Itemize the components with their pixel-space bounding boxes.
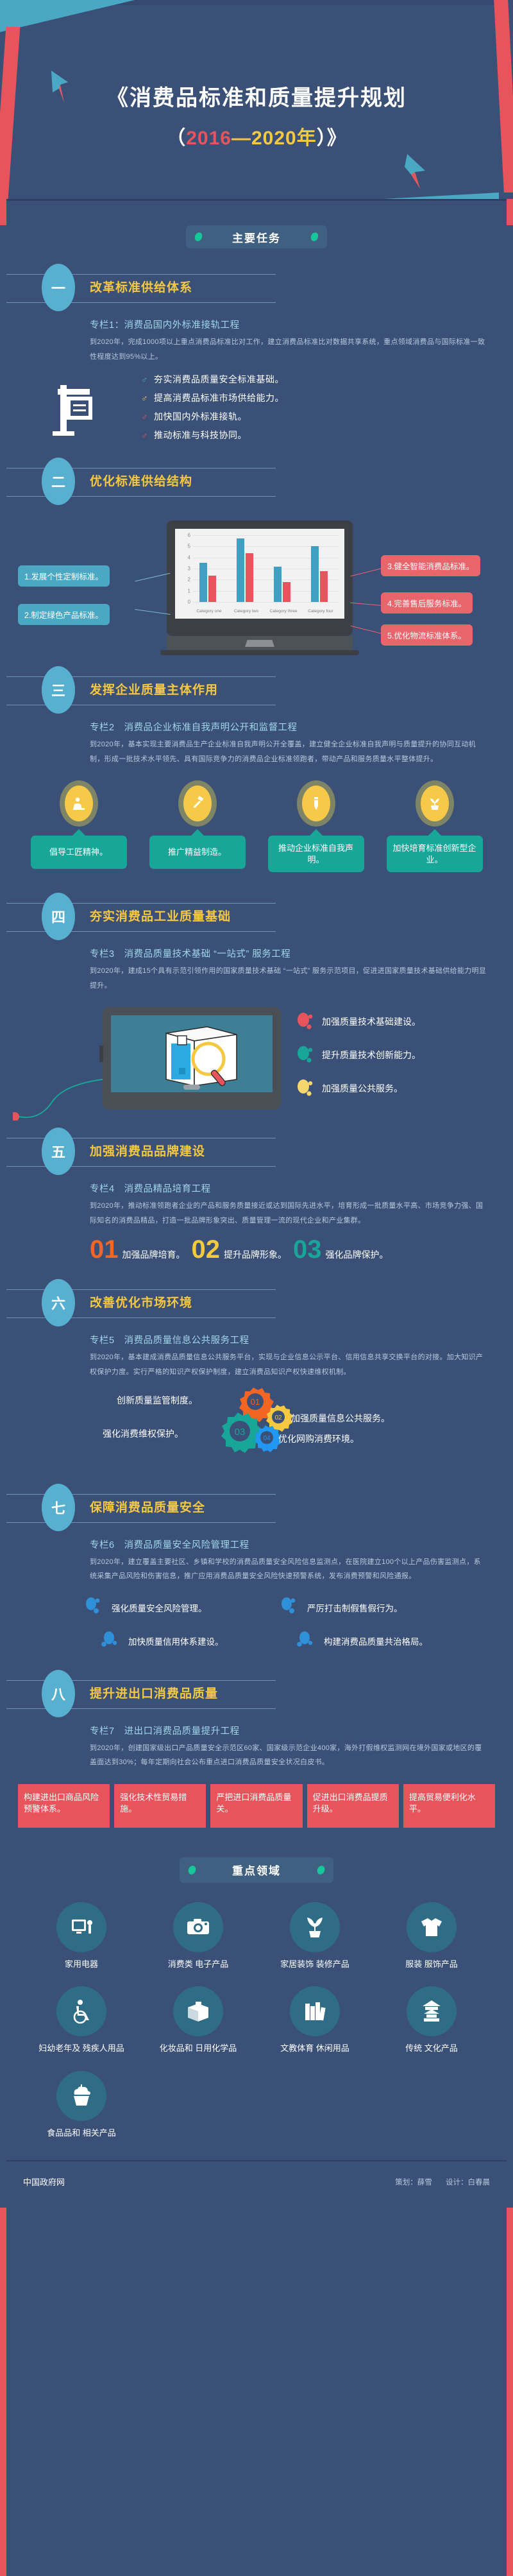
footer-content: 中国政府网 策划：薛雪 设计：白春晨 [6,2161,507,2188]
section-5-header: 五 加强消费品品牌建设 [6,1126,507,1178]
section-3-header: 三 发挥企业质量主体作用 [6,665,507,716]
year-start: 2016 [186,128,231,149]
banner-dot-left-icon [187,1864,198,1875]
key-area-item[interactable]: 消费类 电子产品 [140,1902,256,1970]
section-2-number: 二 [51,471,65,492]
section-7: 七 保障消费品质量安全 专栏6 消费品质量安全风险管理工程 到2020年，建立覆… [6,1482,507,1652]
connector-line [351,626,383,635]
section-5-title: 加强消费品品牌建设 [90,1142,205,1159]
key-area-label: 妇幼老年及 残疾人用品 [23,2043,140,2054]
section-4-number-badge: 四 [42,893,75,940]
section-5-column-title: 专栏4 消费品精品培育工程 [90,1181,507,1195]
bar [283,582,290,602]
card-item[interactable]: 促进出口消费品提质升级。 [307,1784,399,1828]
mars-symbol-icon: ♂ [141,393,154,403]
gear-04-number: 04 [263,1435,271,1442]
bar [311,546,319,602]
monitor-foot [160,650,359,655]
section-1-title: 改革标准供给体系 [90,278,192,295]
bar [237,538,244,602]
card-item[interactable]: 严把进口消费品质量关。 [210,1784,302,1828]
key-area-label: 传统 文化产品 [373,2043,490,2054]
hammer-icon [183,786,212,821]
section-6-number: 六 [51,1292,65,1313]
camera-icon [173,1902,223,1952]
page-footer: 中国政府网 策划：薛雪 设计：白春晨 [6,2160,507,2208]
section-7-title: 保障消费品质量安全 [90,1498,205,1515]
bullet-label: 提高消费品标准市场供给能力。 [154,391,284,404]
section-4: 四 夯实消费品工业质量基础 专栏3 消费品质量技术基础 “一站式” 服务工程 到… [6,891,507,1117]
card-item[interactable]: 倡导工匠精神。 [31,780,127,872]
mars-symbol-icon: ♂ [141,411,154,422]
paren-close: ）》 [317,128,347,149]
section-3-number-badge: 三 [42,666,75,714]
key-area-item[interactable]: 传统 文化产品 [373,1986,490,2054]
tablet-screen [111,1015,273,1092]
card-item[interactable]: 推动企业标准自我声明。 [268,780,364,872]
y-tick: 3 [188,566,190,572]
bar-group [199,563,216,602]
y-tick: 2 [188,577,190,583]
connector-line [350,603,383,606]
footer-source: 中国政府网 [23,2176,65,2188]
bullet-item: 加强质量技术基础建设。 [295,1012,421,1031]
x-tick-label: Category four [308,609,333,614]
page-body: 主要任务 一 改革标准供给体系 专栏1：消费品国内外标准接轨工程 到2020年，… [0,225,513,2208]
tv-icon [56,1902,106,1952]
section-8-column-title: 专栏7 进出口消费品质量提升工程 [90,1724,507,1737]
section-6-column-title: 专栏5 消费品质量信息公共服务工程 [90,1333,507,1346]
section-4-number: 四 [51,906,65,927]
water-drop-icon [83,1597,105,1619]
water-drop-icon [296,1630,317,1652]
monitor-illustration: 6 5 4 3 2 1 0 [167,520,353,636]
cupcake-icon [56,2071,106,2121]
card-label: 推广精益制造。 [149,836,246,869]
section-8-cards: 构建进出口商品风险预警体系。 强化技术性贸易措施。 严把进口消费品质量关。 促进… [18,1784,495,1828]
bullet-item: 加快质量信用体系建设。 [100,1630,273,1652]
blob-icon [295,1079,314,1098]
blob-icon [295,1012,314,1031]
bar-group [311,546,328,602]
numbered-label: 提升品牌形象。 [224,1248,287,1261]
header-corner-triangle-right [383,193,499,199]
key-area-item[interactable]: 化妆品和 日用化学品 [140,1986,256,2054]
key-areas-grid: 家用电器 消费类 电子产品 家居装饰 装修产品 服装 服饰产品 妇幼老年及 残疾… [23,1902,490,2139]
gear-cluster: 01 02 03 04 [6,1386,507,1476]
connector-line [135,609,171,615]
section-1-number-badge: 一 [42,264,75,311]
mars-symbol-icon: ♂ [141,430,154,440]
section-6: 六 改善优化市场环境 专栏5 消费品质量信息公共服务工程 到2020年，基本建成… [6,1278,507,1475]
key-areas-label: 重点领域 [232,1862,281,1878]
gear-label-02: 加强质量信息公共服务。 [291,1412,390,1425]
section-7-column-title: 专栏6 消费品质量安全风险管理工程 [90,1538,507,1551]
tag-right-2[interactable]: 4.完善售后服务标准。 [381,592,473,614]
connector-line [351,568,383,577]
bullet-label: 强化质量安全风险管理。 [112,1601,207,1614]
main-tasks-label: 主要任务 [232,229,281,245]
section-8-number-badge: 八 [42,1670,75,1717]
bullet-item: 强化质量安全风险管理。 [83,1597,273,1619]
section-8-title: 提升进出口消费品质量 [90,1684,218,1701]
section-6-gear-diagram: 01 02 03 04 创新质量监管制度。 加强质量信息公共服务。 [6,1386,507,1476]
section-1-column-title: 专栏1：消费品国内外标准接轨工程 [90,318,507,331]
section-4-column-body: 到2020年，建成15个具有示范引领作用的国家质量技术基础 “一站式” 服务示范… [90,964,487,993]
section-6-number-badge: 六 [42,1279,75,1327]
footer-designer: 设计：白春晨 [446,2179,490,2186]
tablet-side-button [99,1045,103,1062]
section-7-bullets: 强化质量安全风险管理。 严厉打击制假售假行为。 加快质量信用体系建设。 构建消费… [83,1597,468,1652]
bar [199,563,207,602]
section-4-header: 四 夯实消费品工业质量基础 [6,891,507,943]
card-label: 推动企业标准自我声明。 [268,836,364,872]
section-4-diagram: 加强质量技术基础建设。 提升质量技术创新能力。 加强质量公共服务。 [6,1002,507,1117]
gear-label-01: 创新质量监管制度。 [117,1394,198,1407]
numbered-item: 01 加强品牌培育。 [90,1237,185,1262]
numbered-item: 03 强化品牌保护。 [293,1237,389,1262]
bullet-label: 严厉打击制假售假行为。 [307,1601,403,1614]
craftsman-icon [65,786,93,821]
section-7-header: 七 保障消费品质量安全 [6,1482,507,1534]
key-area-item[interactable]: 服装 服饰产品 [373,1902,490,1970]
key-area-item[interactable]: 食品品和 相关产品 [23,2071,140,2139]
card-label: 加快培育标准创新型企业。 [387,836,483,872]
gear-01-number: 01 [251,1397,260,1407]
axis-baseline [193,602,339,603]
key-area-label: 消费类 电子产品 [140,1959,256,1970]
key-area-label: 化妆品和 日用化学品 [140,2043,256,2054]
tag-left-1[interactable]: 1.发展个性定制标准。 [18,565,110,587]
bar [208,576,216,603]
banner-dot-left-icon [194,231,204,242]
page-title-years: （2016—2020年）》 [0,122,513,150]
page-header: 《消费品标准和质量提升规划 （2016—2020年）》 [0,0,513,199]
section-5-number-badge: 五 [42,1128,75,1175]
decorative-arrow-2-icon [405,154,426,189]
header-corner-triangle-left [0,0,135,32]
bullet-label: 提升质量技术创新能力。 [322,1049,421,1061]
section-6-column-body: 到2020年，基本建成消费品质量信息公共服务平台，实现与企业信息公示平台、信用信… [90,1350,487,1379]
section-5-number: 五 [51,1141,65,1162]
connector-line [135,573,171,582]
tablet-home-button[interactable] [183,1085,200,1090]
banner-dot-right-icon [310,231,320,242]
key-area-label: 食品品和 相关产品 [23,2127,140,2139]
y-tick: 5 [188,544,190,549]
gear-02-number: 02 [274,1414,282,1421]
water-drop-icon [279,1597,301,1619]
section-7-number-badge: 七 [42,1484,75,1531]
tablet-illustration [103,1007,281,1110]
tag-right-1[interactable]: 3.健全智能消费品标准。 [381,555,480,576]
card-item[interactable]: 加快培育标准创新型企业。 [387,780,483,872]
card-item[interactable]: 推广精益制造。 [149,780,246,872]
wheelchair-icon [56,1986,106,2036]
number-01: 01 [90,1237,119,1262]
mars-symbol-icon: ♂ [141,374,154,384]
bullet-item: ♂ 夯实消费品质量安全标准基础。 [141,373,507,386]
section-2: 二 优化标准供给结构 6 5 4 3 2 1 0 [6,456,507,658]
bar [320,571,328,603]
gear-label-04: 优化网购消费环境。 [278,1432,359,1445]
key-area-item[interactable]: 家居装饰 装修产品 [256,1902,373,1970]
gear-03-number: 03 [235,1427,246,1438]
section-2-title: 优化标准供给结构 [90,472,192,489]
bullet-label: 构建消费品质量共治格局。 [324,1635,428,1647]
header-divider [0,199,513,201]
key-area-item[interactable]: 文教体育 休闲用品 [256,1986,373,2054]
bullet-label: 推动标准与科技协同。 [154,429,247,442]
monitor-stand [245,640,274,647]
x-tick-label: Category three [270,609,298,614]
section-2-number-badge: 二 [42,458,75,505]
section-5: 五 加强消费品品牌建设 专栏4 消费品精品培育工程 到2020年，推动标准领跑者… [6,1126,507,1262]
icon-badge [60,780,98,827]
paren-open: （ [166,128,186,149]
gear-label-03: 强化消费维权保护。 [103,1427,183,1440]
icon-badge [178,780,217,827]
number-02: 02 [192,1237,221,1262]
tag-left-2[interactable]: 2.制定绿色产品标准。 [18,604,110,625]
section-8-column-body: 到2020年，创建国家级出口产品质量安全示范区60家、国家级示范企业400家，海… [90,1741,487,1770]
bar-chart [193,535,339,602]
bullet-item: 构建消费品质量共治格局。 [296,1630,468,1652]
package-inspect-icon [111,1015,273,1092]
icon-badge [416,780,454,827]
section-3: 三 发挥企业质量主体作用 专栏2 消费品企业标准自我声明公开和监督工程 到202… [6,665,507,872]
main-tasks-banner: 主要任务 [186,225,327,248]
bullet-label: 加强质量技术基础建设。 [322,1015,421,1028]
chart-y-axis: 6 5 4 3 2 1 0 [179,535,192,602]
plant-icon [421,786,449,821]
bullet-item: ♂ 提高消费品标准市场供给能力。 [141,391,507,404]
numbered-item: 02 提升品牌形象。 [192,1237,287,1262]
bullet-label: 加强质量公共服务。 [322,1082,403,1095]
section-3-number: 三 [51,680,65,700]
section-4-title: 夯实消费品工业质量基础 [90,907,231,924]
y-tick: 4 [188,554,190,560]
key-area-label: 服装 服饰产品 [373,1959,490,1970]
page-title: 《消费品标准和质量提升规划 [0,85,513,112]
water-drop-icon [100,1630,122,1652]
section-2-header: 二 优化标准供给结构 [6,456,507,508]
section-3-title: 发挥企业质量主体作用 [90,680,218,698]
bar [246,553,253,602]
section-1-bullet-list: ♂ 夯实消费品质量安全标准基础。 ♂ 提高消费品标准市场供给能力。 ♂ 加快国内… [141,373,507,447]
footer-planner: 策划：薛雪 [395,2179,432,2186]
key-area-label: 文教体育 休闲用品 [256,2043,373,2054]
number-03: 03 [293,1237,322,1262]
tshirt-icon [407,1902,457,1952]
icon-badge [297,780,335,827]
footer-credits: 策划：薛雪 设计：白春晨 [383,2177,490,2187]
x-tick-label: Category one [196,609,221,614]
section-1-header: 一 改革标准供给体系 [6,262,507,314]
bullet-label: 加快国内外标准接轨。 [154,410,247,423]
banner-dot-right-icon [316,1864,326,1875]
section-4-bullet-list: 加强质量技术基础建设。 提升质量技术创新能力。 加强质量公共服务。 [295,1012,421,1112]
card-item[interactable]: 强化技术性贸易措施。 [114,1784,206,1828]
key-area-item[interactable]: 家用电器 [23,1902,140,1970]
bar-group [274,567,290,602]
year-end: 2020年 [251,128,317,149]
section-6-title: 改善优化市场环境 [90,1293,192,1310]
section-8-header: 八 提升进出口消费品质量 [6,1669,507,1720]
section-3-cards: 倡导工匠精神。 推广精益制造。 推动企业标准自我声明。 加快培育标准创新型企业。 [19,780,494,872]
decorative-curve-icon [13,1076,109,1121]
key-area-label: 家用电器 [23,1959,140,1970]
section-8: 八 提升进出口消费品质量 专栏7 进出口消费品质量提升工程 到2020年，创建国… [6,1669,507,1828]
header-red-bar-left [0,27,20,199]
section-2-diagram: 6 5 4 3 2 1 0 [6,514,507,658]
bullet-label: 加快质量信用体系建设。 [128,1635,224,1647]
y-tick: 6 [188,533,190,538]
section-3-column-body: 到2020年，基本实现主要消费品生产企业标准自我声明公开全覆盖，建立健全企业标准… [90,737,487,766]
section-8-number: 八 [51,1683,65,1704]
card-item[interactable]: 提高贸易便利化水平。 [403,1784,495,1828]
section-7-column-body: 到2020年，建立覆盖主要社区、乡镇和学校的消费品质量安全风险信息监测点，在医院… [90,1555,487,1584]
key-area-label: 家居装饰 装修产品 [256,1959,373,1970]
y-tick: 0 [188,599,190,605]
bullet-item: ♂ 推动标准与科技协同。 [141,429,507,442]
section-1-column-body: 到2020年，完成1000项以上重点消费品标准比对工作，建立消费品标准比对数据共… [90,335,487,364]
key-area-item[interactable]: 妇幼老年及 残疾人用品 [23,1986,140,2054]
key-areas-banner: 重点领域 [180,1857,333,1883]
bullet-item: 严厉打击制假售假行为。 [279,1597,468,1619]
pen-icon [302,786,330,821]
section-3-column-title: 专栏2 消费品企业标准自我声明公开和监督工程 [90,720,507,734]
numbered-label: 强化品牌保护。 [326,1248,389,1261]
bar [274,567,282,602]
year-dash: — [231,128,251,149]
card-label: 倡导工匠精神。 [31,836,127,869]
blob-icon [295,1045,314,1065]
section-5-column-body: 到2020年，推动标准领跑者企业的产品和服务质量接近或达到国际先进水平，培育形成… [90,1199,487,1228]
section-7-number: 七 [51,1497,65,1518]
books-icon [290,1986,340,2036]
tag-right-3[interactable]: 5.优化物流标准体系。 [381,624,473,646]
card-item[interactable]: 构建进出口商品风险预警体系。 [18,1784,110,1828]
section-5-numbered-list: 01 加强品牌培育。 02 提升品牌形象。 03 强化品牌保护。 [90,1237,507,1262]
y-tick: 1 [188,588,190,594]
standard-board-icon [6,382,141,438]
bullet-item: ♂ 加快国内外标准接轨。 [141,410,507,423]
numbered-label: 加强品牌培育。 [122,1248,185,1261]
section-1-bullets-row: ♂ 夯实消费品质量安全标准基础。 ♂ 提高消费品标准市场供给能力。 ♂ 加快国内… [6,364,507,452]
section-1: 一 改革标准供给体系 专栏1：消费品国内外标准接轨工程 到2020年，完成100… [6,262,507,452]
section-4-column-title: 专栏3 消费品质量技术基础 “一站式” 服务工程 [90,947,507,960]
section-1-number: 一 [51,277,65,298]
section-6-header: 六 改善优化市场环境 [6,1278,507,1329]
soap-box-icon [173,1986,223,2036]
bullet-item: 加强质量公共服务。 [295,1079,421,1098]
potted-plant-icon [290,1902,340,1952]
bullet-item: 提升质量技术创新能力。 [295,1045,421,1065]
monitor-screen: 6 5 4 3 2 1 0 [175,529,344,619]
bullet-label: 夯实消费品质量安全标准基础。 [154,373,284,386]
pagoda-icon [407,1986,457,2036]
bar-group [237,538,253,602]
gridline [193,535,339,536]
x-tick-label: Category two [234,609,258,614]
